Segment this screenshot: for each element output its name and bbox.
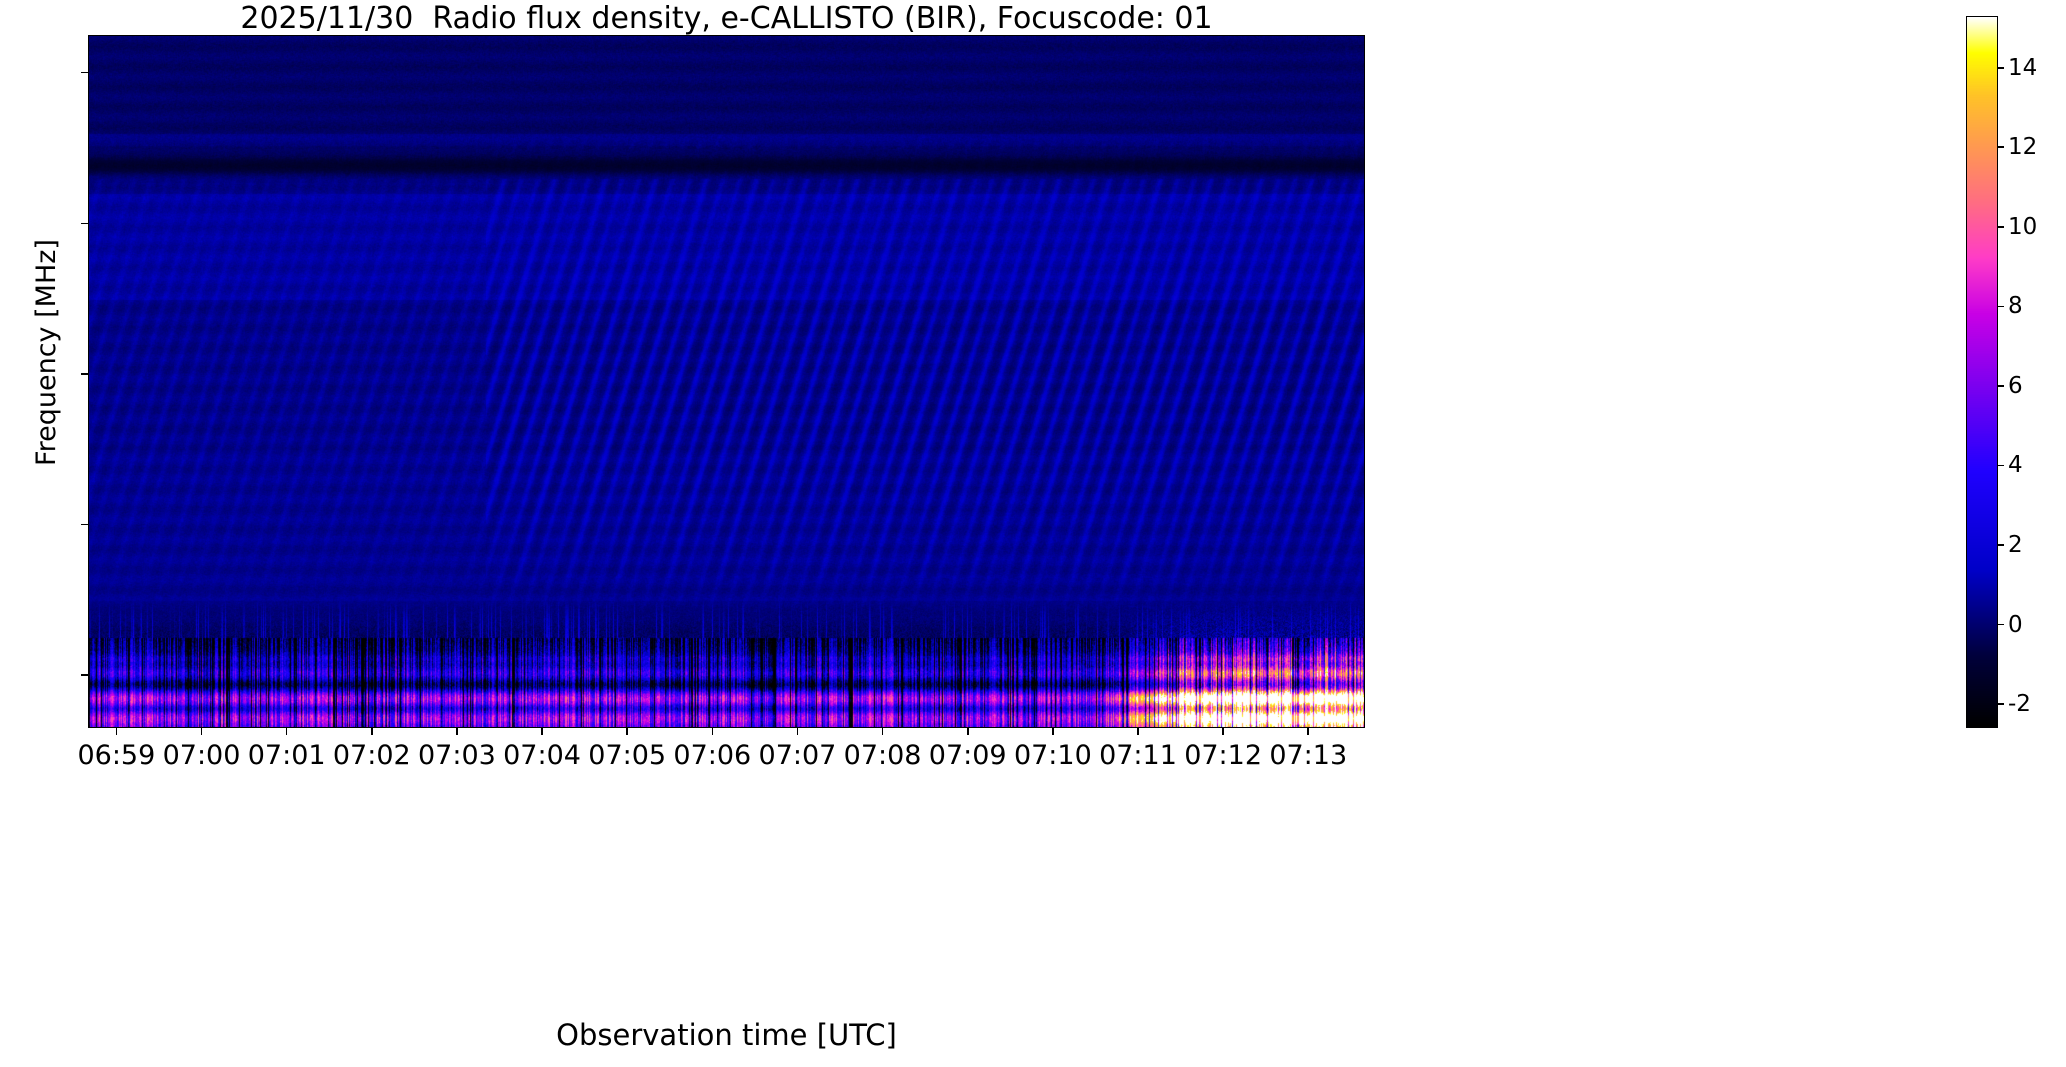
colorbar-tick-label: 12 [2008, 134, 2037, 160]
x-tick-mark [201, 728, 203, 735]
figure-root: 2025/11/30 Radio flux density, e-CALLIST… [0, 0, 2066, 1067]
spectrogram-axes[interactable] [88, 35, 1365, 728]
colorbar-tick-label: -2 [2008, 691, 2031, 717]
page-title: 2025/11/30 Radio flux density, e-CALLIST… [88, 4, 1365, 34]
x-tick-mark [1222, 728, 1224, 735]
colorbar-tick-mark [1998, 544, 2004, 546]
x-tick-label: 07:13 [1238, 740, 1378, 771]
x-tick-mark [1307, 728, 1309, 735]
colorbar-tick-label: 10 [2008, 214, 2037, 240]
colorbar-tick-mark [1998, 67, 2004, 69]
x-tick-mark [797, 728, 799, 735]
y-tick-mark [81, 223, 88, 225]
x-axis-label: Observation time [UTC] [88, 1018, 1365, 1052]
x-tick-mark [967, 728, 969, 735]
x-tick-mark [1052, 728, 1054, 735]
y-tick-mark [81, 524, 88, 526]
colorbar-tick-mark [1998, 226, 2004, 228]
y-tick-mark [81, 674, 88, 676]
colorbar-tick-mark [1998, 385, 2004, 387]
colorbar[interactable]: 14121086420-2 [1966, 16, 1998, 728]
x-tick-mark [626, 728, 628, 735]
colorbar-tick-label: 14 [2008, 55, 2037, 81]
x-tick-mark [882, 728, 884, 735]
x-tick-mark [286, 728, 288, 735]
colorbar-tick-label: 2 [2008, 532, 2023, 558]
x-tick-mark [541, 728, 543, 735]
y-tick-mark [81, 373, 88, 375]
x-tick-mark [116, 728, 118, 735]
x-tick-mark [371, 728, 373, 735]
spectrogram-image[interactable] [89, 36, 1365, 728]
colorbar-tick-mark [1998, 624, 2004, 626]
colorbar-tick-label: 0 [2008, 612, 2023, 638]
colorbar-tick-label: 6 [2008, 373, 2023, 399]
y-tick-mark [81, 72, 88, 74]
x-tick-mark [456, 728, 458, 735]
colorbar-tick-label: 8 [2008, 293, 2023, 319]
x-tick-mark [712, 728, 714, 735]
colorbar-tick-label: 4 [2008, 452, 2023, 478]
colorbar-gradient [1966, 16, 1998, 728]
colorbar-tick-mark [1998, 146, 2004, 148]
x-tick-mark [1137, 728, 1139, 735]
colorbar-tick-mark [1998, 306, 2004, 308]
colorbar-tick-mark [1998, 465, 2004, 467]
y-axis-label: Frequency [MHz] [31, 6, 62, 699]
colorbar-tick-mark [1998, 703, 2004, 705]
